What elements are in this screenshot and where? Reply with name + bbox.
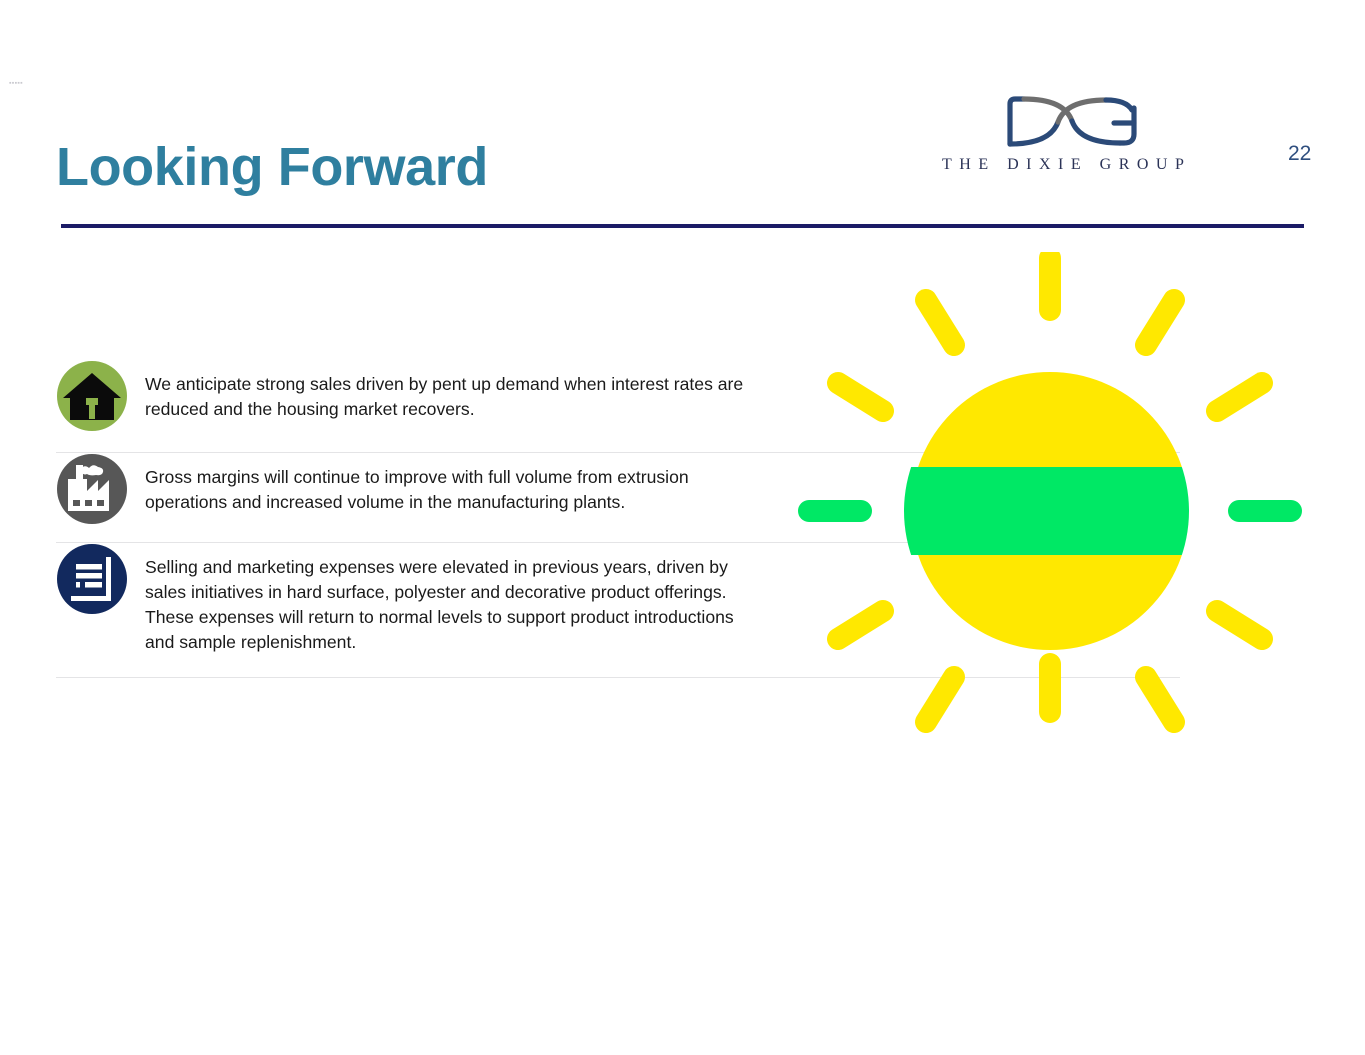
page-title: Looking Forward — [56, 139, 488, 196]
page-number: 22 — [1288, 143, 1311, 164]
header-divider — [61, 224, 1304, 228]
list-item: Selling and marketing expenses were elev… — [56, 543, 1180, 678]
corner-artifact: ▪▪▪▪▪ — [9, 80, 23, 87]
list-item-text: Gross margins will continue to improve w… — [145, 453, 749, 533]
list-item: Gross margins will continue to improve w… — [56, 453, 1180, 543]
list-item-text: We anticipate strong sales driven by pen… — [145, 360, 749, 452]
bullet-list: We anticipate strong sales driven by pen… — [56, 356, 1180, 678]
dxg-monogram-icon — [1002, 90, 1142, 152]
list-item: We anticipate strong sales driven by pen… — [56, 356, 1180, 453]
list-item-text: Selling and marketing expenses were elev… — [145, 543, 749, 677]
logo-wordmark: THE DIXIE GROUP — [942, 156, 1282, 174]
house-icon — [56, 360, 128, 432]
factory-icon — [56, 453, 128, 525]
bar-chart-icon — [56, 543, 128, 615]
company-logo: THE DIXIE GROUP — [942, 90, 1282, 190]
slide-canvas: ▪▪▪▪▪ Looking Forward THE DIXIE GROUP 22 — [0, 0, 1365, 1055]
